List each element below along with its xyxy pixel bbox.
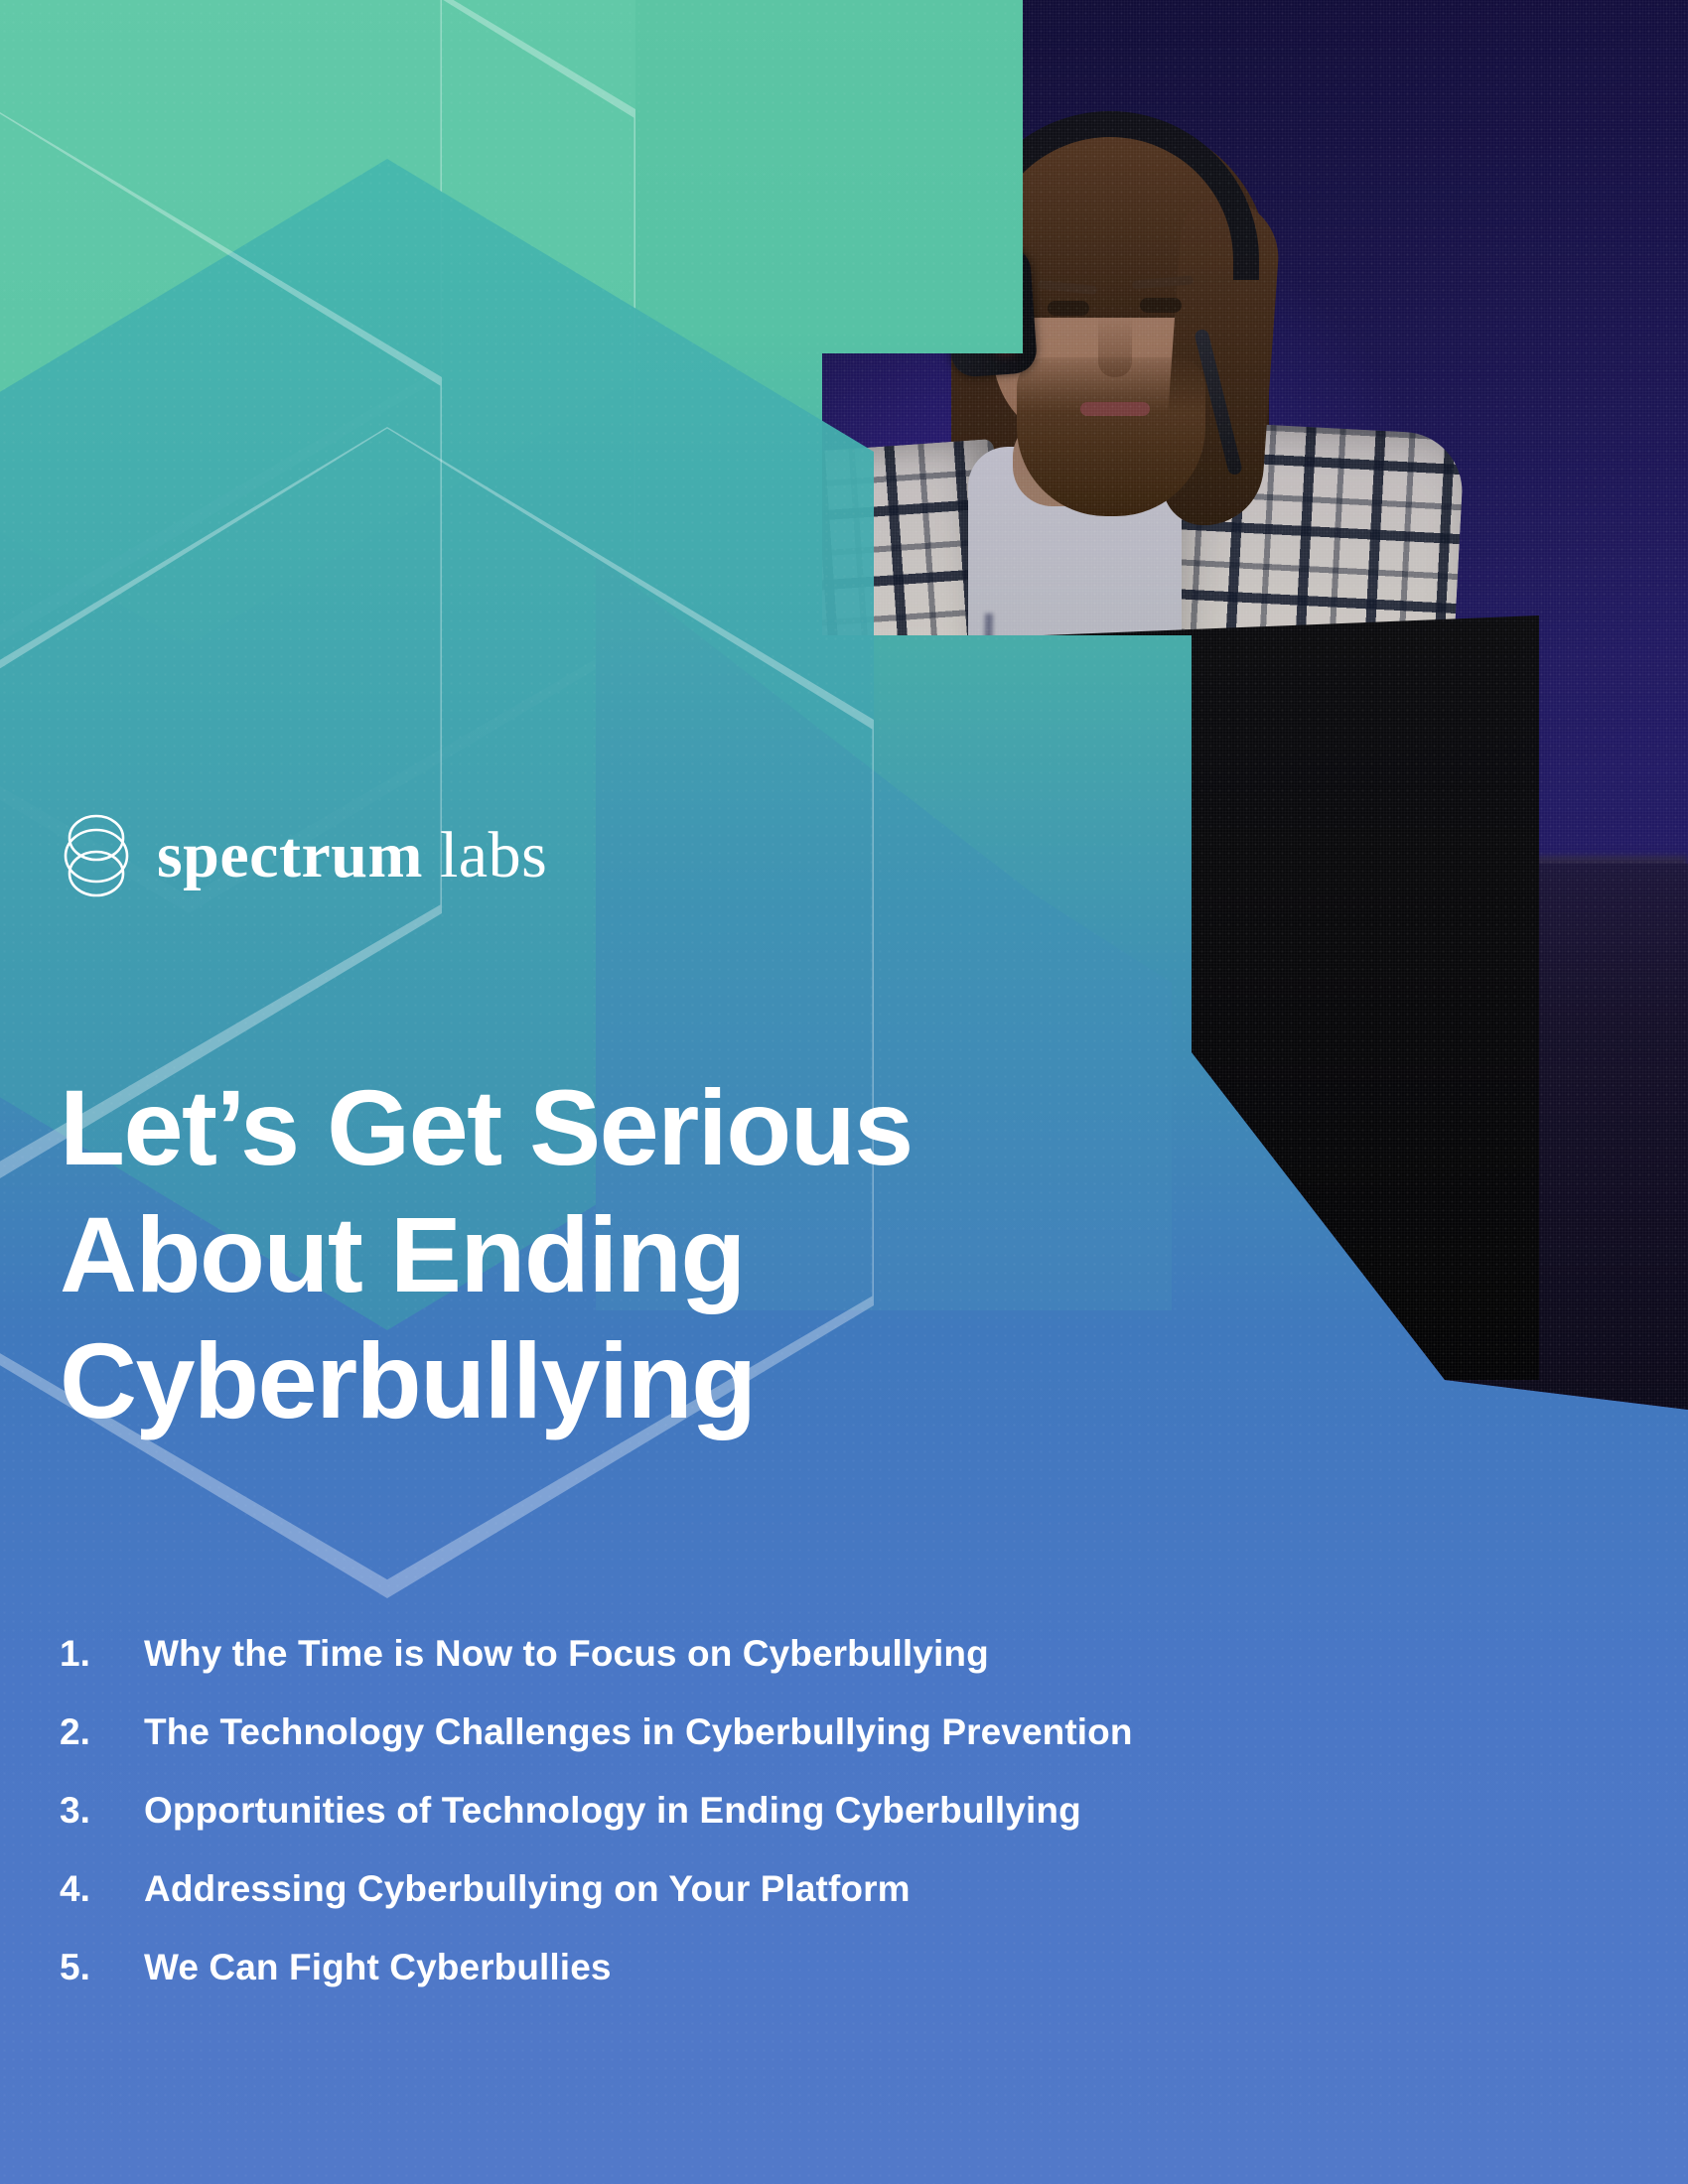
page-title: Let’s Get Serious About Ending Cyberbull… — [60, 1064, 1201, 1443]
toc-item-label: The Technology Challenges in Cyberbullyi… — [144, 1711, 1133, 1753]
title-line-1: Let’s Get Serious — [60, 1064, 1201, 1190]
title-line-2: About Ending — [60, 1191, 1201, 1317]
toc-item-number: 3. — [60, 1790, 144, 1832]
toc-item[interactable]: 3. Opportunities of Technology in Ending… — [60, 1790, 1450, 1832]
spectrum-circles-icon — [60, 812, 133, 899]
brand-logo: spectrum labs — [60, 812, 547, 899]
toc-item-number: 5. — [60, 1947, 144, 1988]
brand-name-labs: labs — [440, 819, 547, 891]
toc-item-label: Opportunities of Technology in Ending Cy… — [144, 1790, 1081, 1832]
toc-item[interactable]: 5. We Can Fight Cyberbullies — [60, 1947, 1450, 1988]
table-of-contents: 1. Why the Time is Now to Focus on Cyber… — [60, 1633, 1450, 2025]
toc-item[interactable]: 4. Addressing Cyberbullying on Your Plat… — [60, 1868, 1450, 1910]
title-line-3: Cyberbullying — [60, 1317, 1201, 1443]
toc-item-number: 4. — [60, 1868, 144, 1910]
toc-item-number: 2. — [60, 1711, 144, 1753]
toc-item-number: 1. — [60, 1633, 144, 1675]
toc-item[interactable]: 2. The Technology Challenges in Cyberbul… — [60, 1711, 1450, 1753]
toc-item-label: Why the Time is Now to Focus on Cyberbul… — [144, 1633, 989, 1675]
brand-name-spectrum: spectrum — [157, 819, 423, 891]
cover-page: spectrum labs Let’s Get Serious About En… — [0, 0, 1688, 2184]
toc-item-label: Addressing Cyberbullying on Your Platfor… — [144, 1868, 911, 1910]
toc-item-label: We Can Fight Cyberbullies — [144, 1947, 612, 1988]
toc-item[interactable]: 1. Why the Time is Now to Focus on Cyber… — [60, 1633, 1450, 1675]
brand-wordmark: spectrum labs — [157, 823, 547, 888]
